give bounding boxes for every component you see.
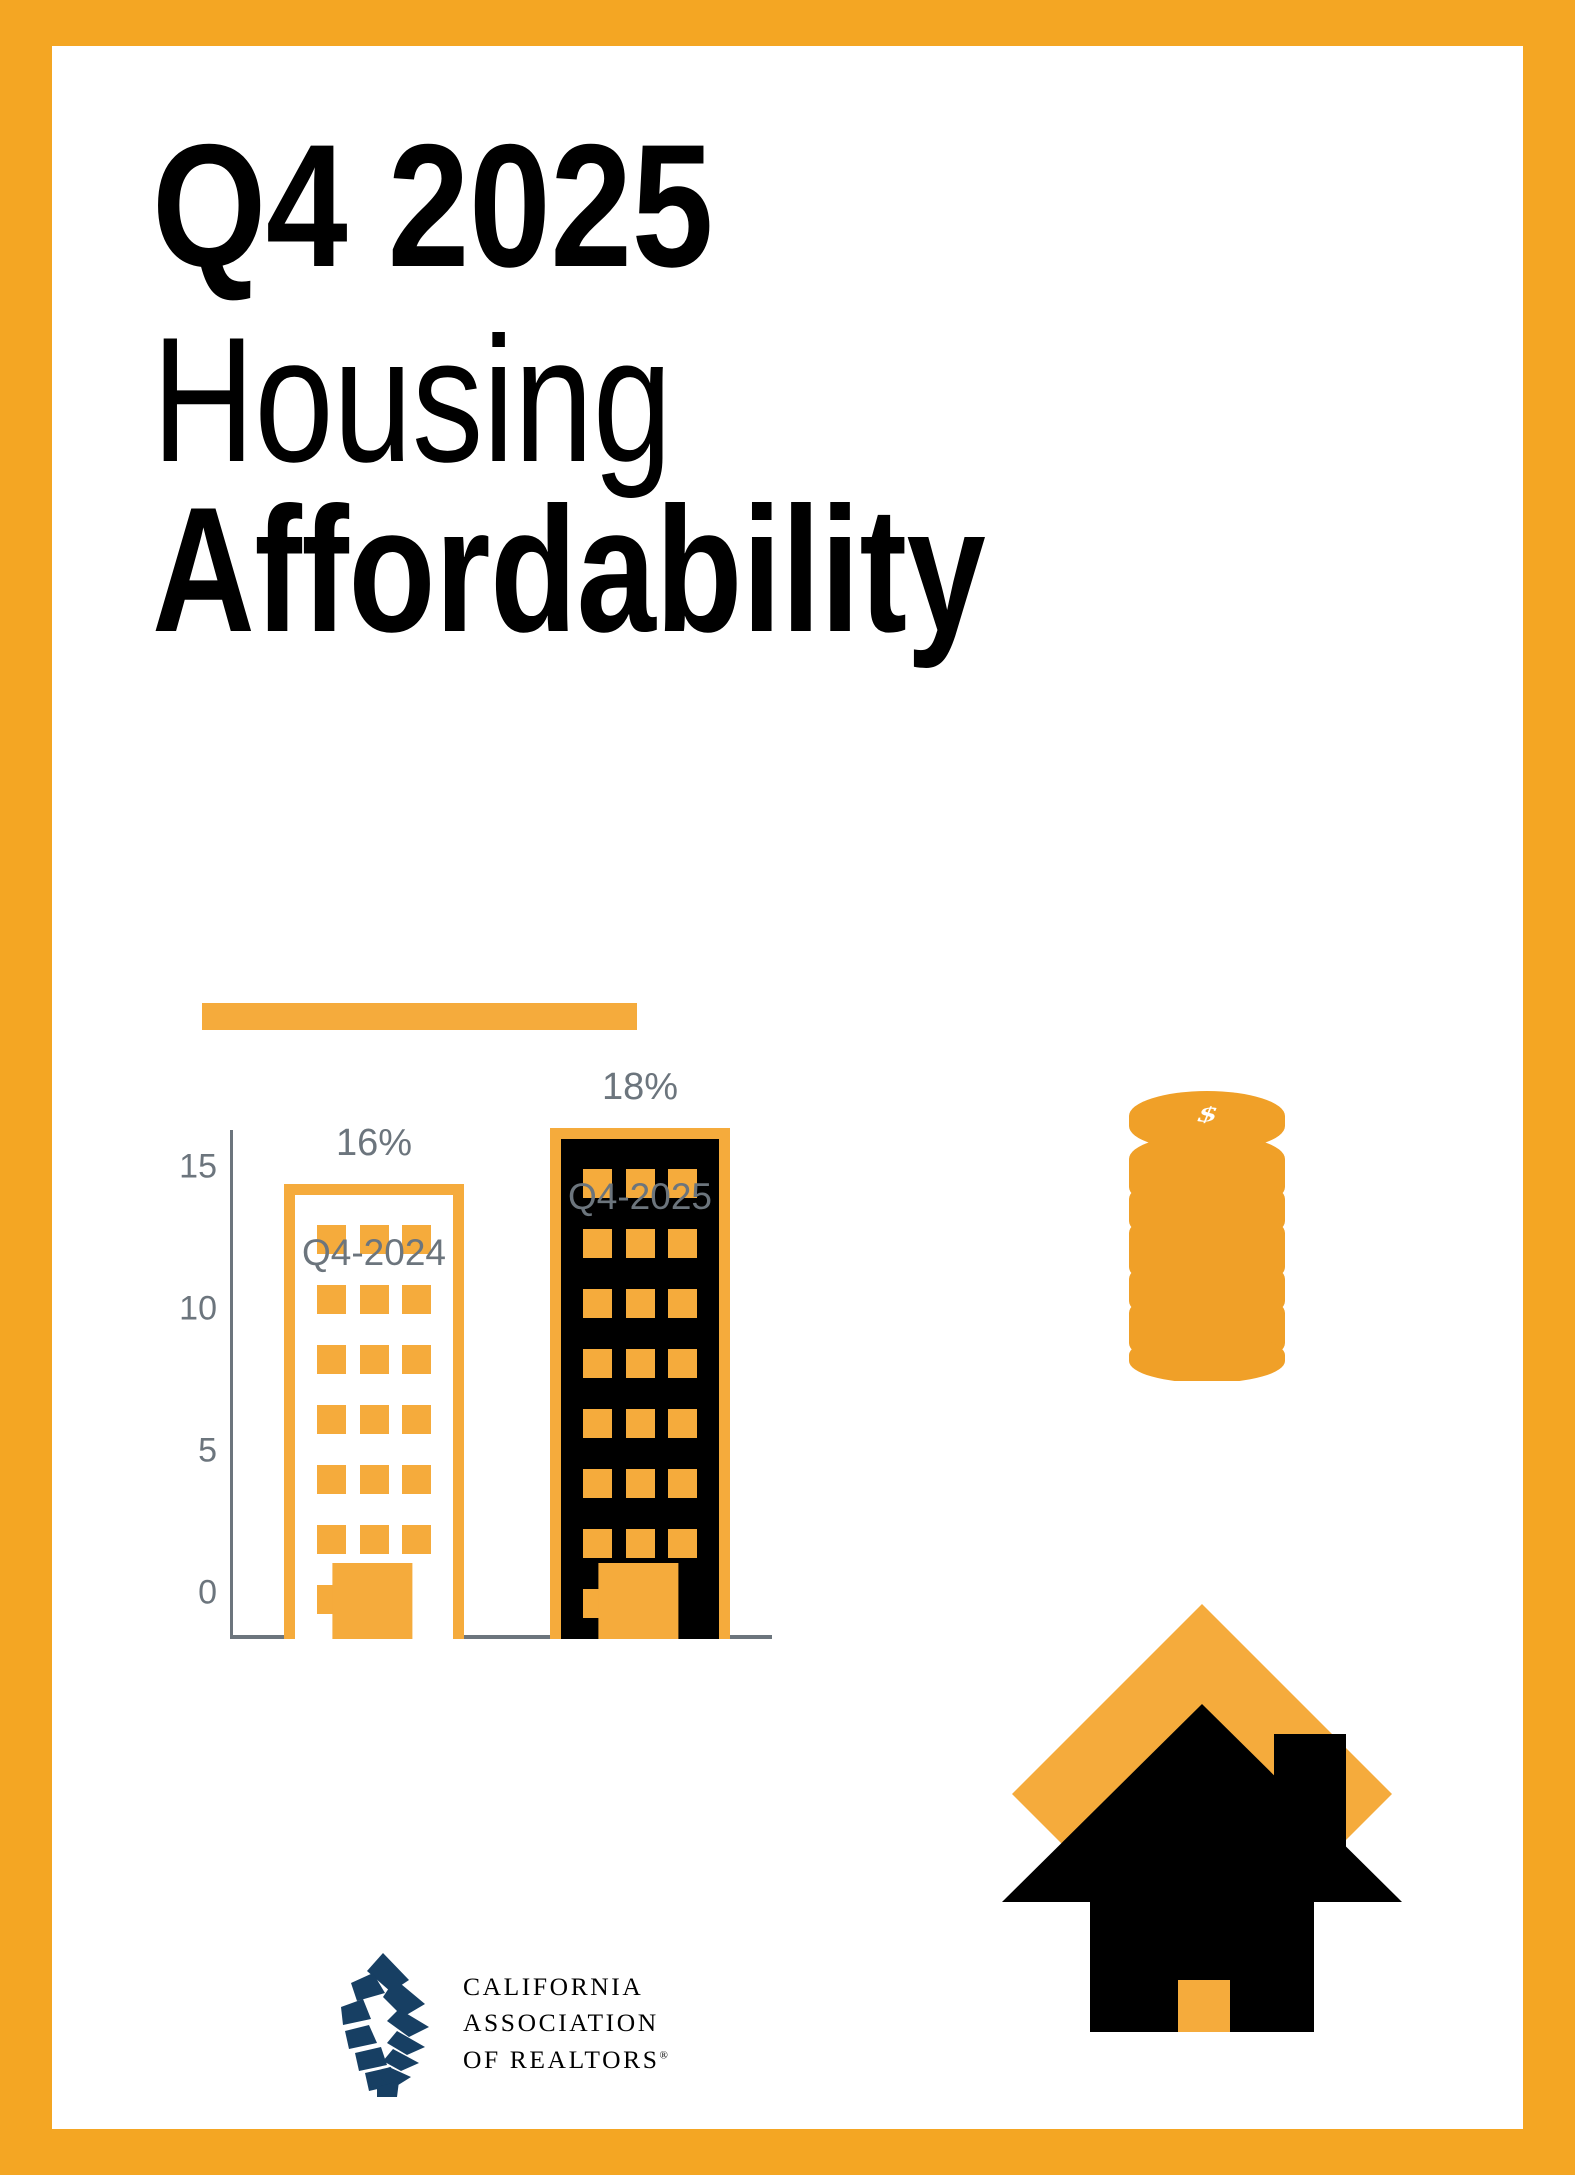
window-row — [583, 1229, 697, 1258]
window — [360, 1285, 389, 1314]
window — [668, 1229, 697, 1258]
window-row — [317, 1285, 431, 1314]
bar-value-label-2025: 18% — [602, 1066, 678, 1109]
window-row — [317, 1405, 431, 1434]
window — [402, 1345, 431, 1374]
window — [360, 1525, 389, 1554]
window — [360, 1465, 389, 1494]
window — [668, 1469, 697, 1498]
window — [583, 1529, 612, 1558]
window — [626, 1229, 655, 1258]
window — [360, 1405, 389, 1434]
window — [317, 1345, 346, 1374]
window-row — [583, 1529, 697, 1558]
window — [583, 1349, 612, 1378]
title-line-affordability: Affordability — [152, 483, 1192, 657]
window — [402, 1525, 431, 1554]
car-logo-line-3: OF REALTORS® — [463, 2042, 668, 2078]
y-tick-15: 15 — [157, 1148, 217, 1187]
title-quarter: Q4 2025 — [152, 121, 1244, 293]
window — [626, 1409, 655, 1438]
car-logo-wordmark: CALIFORNIA ASSOCIATION OF REALTORS® — [463, 1969, 668, 2078]
x-tick-label-2025: Q4-2025 — [568, 1176, 712, 1218]
window — [402, 1285, 431, 1314]
y-axis-line — [230, 1130, 233, 1639]
car-logo: CALIFORNIA ASSOCIATION OF REALTORS® — [337, 1936, 737, 2111]
y-tick-5: 5 — [157, 1432, 217, 1471]
house-icon — [982, 1566, 1422, 2036]
window — [626, 1289, 655, 1318]
building-door-2024 — [332, 1563, 412, 1639]
page-title: Q4 2025 Housing Affordability — [152, 121, 1452, 657]
window — [668, 1289, 697, 1318]
window-row — [583, 1349, 697, 1378]
window — [668, 1409, 697, 1438]
y-tick-10: 10 — [157, 1290, 217, 1329]
california-bear-mark-icon — [337, 1949, 445, 2099]
title-underline-rule — [202, 1003, 637, 1030]
window — [402, 1405, 431, 1434]
window — [583, 1229, 612, 1258]
window — [583, 1289, 612, 1318]
bar-q4-2025[interactable]: 18% — [550, 1128, 730, 1639]
window — [668, 1349, 697, 1378]
window — [626, 1529, 655, 1558]
window — [626, 1349, 655, 1378]
window-row — [583, 1289, 697, 1318]
car-logo-line-3-text: OF REALTORS — [463, 2045, 660, 2074]
window — [360, 1345, 389, 1374]
window-row — [583, 1469, 697, 1498]
poster-inner-panel: Q4 2025 Housing Affordability 15 10 5 0 … — [52, 46, 1523, 2129]
window-row — [317, 1525, 431, 1554]
window-row — [583, 1409, 697, 1438]
car-logo-line-1: CALIFORNIA — [463, 1969, 668, 2005]
window — [668, 1529, 697, 1558]
window — [626, 1469, 655, 1498]
title-line-housing: Housing — [152, 313, 1192, 487]
y-axis-tick-labels: 15 10 5 0 — [112, 1066, 217, 1926]
car-logo-line-2: ASSOCIATION — [463, 2005, 668, 2041]
poster-canvas: Q4 2025 Housing Affordability 15 10 5 0 … — [0, 0, 1575, 2175]
building-door-2025 — [598, 1563, 678, 1639]
plot-area: 16% — [230, 1066, 772, 1926]
bar-value-label-2024: 16% — [336, 1122, 412, 1165]
coin-stack-icon: $ — [1107, 1071, 1307, 1381]
house-door — [1178, 1980, 1230, 2032]
bar-chart: 15 10 5 0 16% — [112, 1066, 772, 1926]
registered-mark: ® — [660, 2049, 668, 2061]
window — [317, 1405, 346, 1434]
x-tick-label-2024: Q4-2024 — [302, 1232, 446, 1274]
window — [583, 1409, 612, 1438]
y-tick-0: 0 — [157, 1574, 217, 1613]
window — [317, 1285, 346, 1314]
window — [317, 1465, 346, 1494]
window — [402, 1465, 431, 1494]
chimney — [1274, 1734, 1346, 1854]
window-row — [317, 1465, 431, 1494]
window — [317, 1525, 346, 1554]
window-row — [317, 1345, 431, 1374]
bar-q4-2024[interactable]: 16% — [284, 1184, 464, 1639]
window — [583, 1469, 612, 1498]
